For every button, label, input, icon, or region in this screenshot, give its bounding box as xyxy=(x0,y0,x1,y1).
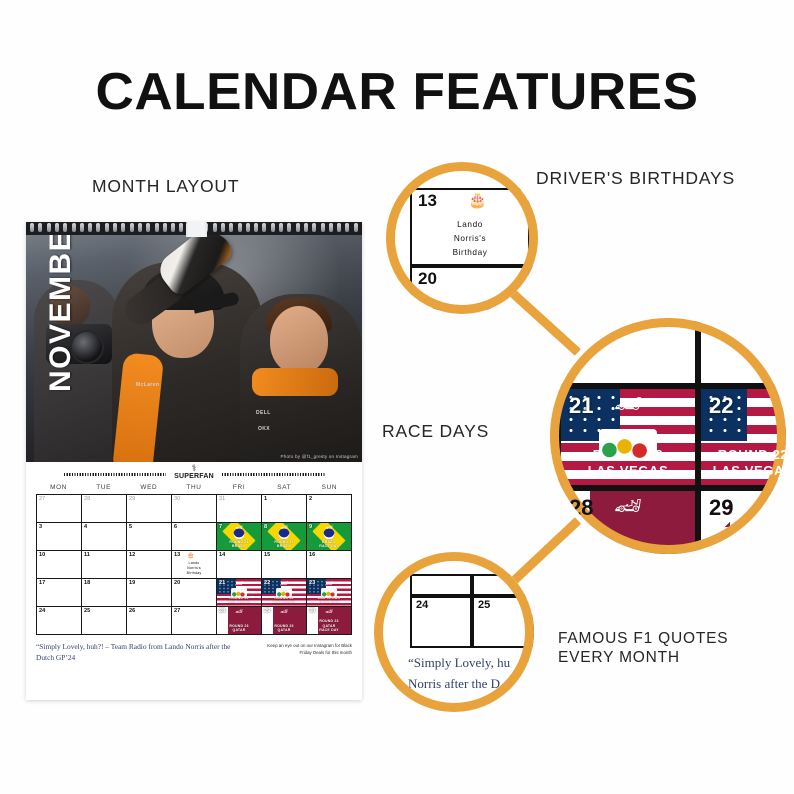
birthday-cake-icon: 🎂 xyxy=(187,552,194,559)
zoom-quote-text: “Simply Lovely, hu Norris after the D xyxy=(408,652,534,695)
spiral-wire xyxy=(96,223,100,232)
photo-credit: Photo by @f1_gresty on Instagram xyxy=(281,454,358,459)
day-number: 9 xyxy=(309,524,312,530)
calendar-day-cell: ROUND 21 BRAZIL🏎8 xyxy=(262,523,307,551)
day-number: 21 xyxy=(219,580,225,586)
day-number: 12 xyxy=(129,552,135,558)
calendar-day-cell: ROUND 23 QATAR RACE DAY🏎30 xyxy=(307,607,352,635)
calendar-day-cell: ROUND 22 LAS VEGAS🏎21 xyxy=(217,579,262,607)
spiral-wire xyxy=(138,223,142,232)
weekday-header-row: MONTUEWEDTHUFRISATSUN xyxy=(26,484,362,494)
birthday-text: Lando Norris's Birthday xyxy=(172,561,216,577)
spiral-wire xyxy=(304,223,308,232)
race-round-label: ROUND 23 QATAR xyxy=(262,624,306,633)
f1-car-icon: 🏎 xyxy=(614,393,642,415)
calendar-day-cell: ROUND 23 QATAR🏎29 xyxy=(262,607,307,635)
logo-wordmark: SUPERFAN xyxy=(170,473,218,481)
logo-mark-icon: ⚕ xyxy=(170,464,218,473)
weekday-label-sun: SUN xyxy=(307,484,352,494)
zoom-birthday-text: Lando Norris's Birthday xyxy=(410,218,530,260)
day-number: 30 xyxy=(174,496,180,502)
spiral-wire xyxy=(47,223,51,232)
zoom-race-cell-22: 22 ROUND 22 LAS VEGAS xyxy=(698,386,786,488)
spiral-wire xyxy=(63,223,67,232)
spiral-wire xyxy=(105,223,109,232)
label-race-days: RACE DAYS xyxy=(382,421,489,443)
calendar-day-cell: 3 xyxy=(37,523,82,551)
day-number: 16 xyxy=(309,552,315,558)
spiral-wire xyxy=(354,223,358,232)
day-number: 29 xyxy=(264,608,270,614)
day-number: 18 xyxy=(84,580,90,586)
spiral-wire xyxy=(229,223,233,232)
day-number: 17 xyxy=(39,580,45,586)
zoom-race-day-number: 29 xyxy=(709,495,733,521)
zoom-race-day-number: 28 xyxy=(569,495,593,521)
calendar-day-cell: 13🎂Lando Norris's Birthday xyxy=(172,551,217,579)
day-number: 29 xyxy=(129,496,135,502)
f1-car-icon: 🏎 xyxy=(614,495,642,517)
calendar-day-cell: 19 xyxy=(127,579,172,607)
zoom-quote-cell-top-left xyxy=(410,574,472,596)
decorative-rule-right xyxy=(222,473,326,476)
f1-car-icon: 🏎 xyxy=(280,609,288,615)
day-number: 31 xyxy=(219,496,225,502)
day-number: 28 xyxy=(84,496,90,502)
casino-chips-icon xyxy=(321,588,337,597)
calendar-day-cell: 2 xyxy=(307,495,352,523)
calendar-day-cell: ROUND 21 BRAZIL🏎7 xyxy=(217,523,262,551)
calendar-month-name: NOVEMBER xyxy=(44,222,78,392)
spiral-wire xyxy=(155,223,159,232)
casino-chips-icon xyxy=(599,429,657,459)
spiral-wire xyxy=(171,223,175,232)
spiral-wire xyxy=(312,223,316,232)
zoom-race-round-label: ROUND 22 LAS VEGAS xyxy=(701,447,786,480)
calendar-day-cell: 14 xyxy=(217,551,262,579)
spiral-wire xyxy=(279,223,283,232)
day-number: 2 xyxy=(309,496,312,502)
spiral-wire xyxy=(55,223,59,232)
day-number: 10 xyxy=(39,552,45,558)
calendar-day-cell: LAS VEGAS RACE DAY🏎23 xyxy=(307,579,352,607)
calendar-day-cell: 30 xyxy=(172,495,217,523)
day-number: 30 xyxy=(309,608,315,614)
weekday-label-wed: WED xyxy=(126,484,171,494)
day-number: 1 xyxy=(264,496,267,502)
spiral-wire xyxy=(130,223,134,232)
spiral-wire xyxy=(321,223,325,232)
driver-oscar-figure: DELL OKX xyxy=(240,294,362,462)
weekday-label-sat: SAT xyxy=(262,484,307,494)
calendar-day-cell: 29 xyxy=(127,495,172,523)
day-number: 22 xyxy=(264,580,270,586)
calendar-footer: “Simply Lovely, huh?! – Team Radio from … xyxy=(36,641,352,677)
spiral-wire xyxy=(221,223,225,232)
spiral-wire xyxy=(329,223,333,232)
spiral-wire xyxy=(287,223,291,232)
calendar-day-cell: 20 xyxy=(172,579,217,607)
calendar-day-cell: 10 xyxy=(37,551,82,579)
zoom-race-empty-cell-left xyxy=(558,318,698,386)
spiral-wire xyxy=(296,223,300,232)
race-round-label: BRAZIL RACE DAY xyxy=(307,540,351,549)
spiral-wire xyxy=(345,223,349,232)
race-round-label: ROUND 22 LAS VEGAS xyxy=(262,596,306,605)
calendar-day-cell: 17 xyxy=(37,579,82,607)
weekday-label-fri: FRI xyxy=(217,484,262,494)
zoom-birthday-day-number-below: 20 xyxy=(418,269,437,289)
superfan-logo: ⚕ SUPERFAN xyxy=(170,464,218,481)
f1-car-icon: 🏎 xyxy=(325,525,333,531)
spiral-wire xyxy=(38,223,42,232)
calendar-day-cell: ROUND 23 QATAR🏎28 xyxy=(217,607,262,635)
day-number: 5 xyxy=(129,524,132,530)
zoom-quote-cell-top-right xyxy=(472,574,534,596)
spiral-wire xyxy=(238,223,242,232)
day-number: 19 xyxy=(129,580,135,586)
spiral-wire xyxy=(121,223,125,232)
calendar-day-cell: 12 xyxy=(127,551,172,579)
zoom-race-day-number: 21 xyxy=(569,393,593,419)
weekday-label-mon: MON xyxy=(36,484,81,494)
hanging-hook xyxy=(186,222,207,237)
zoom-birthday-day-number: 13 xyxy=(418,191,437,211)
calendar-day-cell: 27 xyxy=(172,607,217,635)
calendar-day-cell: 27 xyxy=(37,495,82,523)
day-number: 11 xyxy=(84,552,90,558)
day-number: 20 xyxy=(174,580,180,586)
casino-chips-icon xyxy=(276,588,292,597)
calendar-day-cell: 31 xyxy=(217,495,262,523)
calendar-day-cell: 18 xyxy=(82,579,127,607)
day-number: 15 xyxy=(264,552,270,558)
f1-car-icon: 🏎 xyxy=(280,581,288,587)
label-famous-quotes: FAMOUS F1 QUOTES EVERY MONTH xyxy=(558,629,728,668)
feature-poster: CALENDAR FEATURES MONTH LAYOUT DRIVER'S … xyxy=(0,0,794,794)
zoom-birthday-content: 13 20 🎂 Lando Norris's Birthday xyxy=(386,162,538,314)
calendar-day-cell: ROUND 22 LAS VEGAS🏎22 xyxy=(262,579,307,607)
f1-car-icon: 🏎 xyxy=(325,609,333,615)
label-month-layout: MONTH LAYOUT xyxy=(92,176,239,198)
day-number: 4 xyxy=(84,524,87,530)
day-number: 6 xyxy=(174,524,177,530)
spiral-wire xyxy=(213,223,217,232)
calendar-day-cell: BRAZIL RACE DAY🏎9 xyxy=(307,523,352,551)
calendar-day-cell: 28 xyxy=(82,495,127,523)
zoom-race-empty-cell-right xyxy=(698,318,786,386)
calendar-day-cell: 16 xyxy=(307,551,352,579)
calendar-day-cell: 6 xyxy=(172,523,217,551)
spiral-wire xyxy=(113,223,117,232)
calendar-day-cell: 26 xyxy=(127,607,172,635)
calendar-day-cell: 15 xyxy=(262,551,307,579)
race-round-label: LAS VEGAS RACE DAY xyxy=(307,596,351,605)
day-number: 14 xyxy=(219,552,225,558)
zoom-birthday-cell-right xyxy=(530,266,538,310)
calendar-day-cell: 11 xyxy=(82,551,127,579)
weekday-label-tue: TUE xyxy=(81,484,126,494)
zoom-quote-content: 24 25 “Simply Lovely, hu Norris after th… xyxy=(374,552,534,712)
day-number: 27 xyxy=(39,496,45,502)
race-round-label: ROUND 23 QATAR xyxy=(217,624,261,633)
spiral-wire xyxy=(146,223,150,232)
f1-car-icon: 🏎 xyxy=(235,581,243,587)
spiral-wire xyxy=(163,223,167,232)
calendar-grid-sheet: ⚕ SUPERFAN MONTUEWEDTHUFRISATSUN 2728293… xyxy=(26,462,362,700)
calendar-promo-text: Keep an eye out on our Instagram for Bla… xyxy=(256,642,352,657)
calendar-cover-photo: McLaren DELL OKX Photo by @f1_gresty on … xyxy=(26,222,362,462)
day-number: 28 xyxy=(219,608,225,614)
brand-row: ⚕ SUPERFAN xyxy=(26,462,362,484)
spiral-wire xyxy=(254,223,258,232)
calendar-product-image: McLaren DELL OKX Photo by @f1_gresty on … xyxy=(26,222,362,700)
spiral-wire xyxy=(88,223,92,232)
day-number: 24 xyxy=(39,608,45,614)
zoom-race-content: 🏎 21 ROUND 22 LAS VEGAS 22 ROUND 22 LAS … xyxy=(550,318,786,554)
day-number: 23 xyxy=(309,580,315,586)
zoom-quote-day-number-right: 25 xyxy=(478,599,490,611)
day-number: 25 xyxy=(84,608,90,614)
day-number: 8 xyxy=(264,524,267,530)
spiral-wire xyxy=(337,223,341,232)
spiral-wire xyxy=(80,223,84,232)
race-round-label: ROUND 22 LAS VEGAS xyxy=(217,596,261,605)
calendar-day-grid: 2728293031123456ROUND 21 BRAZIL🏎7ROUND 2… xyxy=(36,494,352,635)
birthday-cake-icon: 🎂 xyxy=(468,192,487,210)
decorative-rule-left xyxy=(64,473,166,476)
calendar-quote-text: “Simply Lovely, huh?! – Team Radio from … xyxy=(36,641,236,664)
f1-car-icon: 🏎 xyxy=(325,581,333,587)
f1-car-icon: 🏎 xyxy=(235,525,243,531)
f1-car-icon: 🏎 xyxy=(280,525,288,531)
spiral-wire xyxy=(179,223,183,232)
spiral-wire xyxy=(30,223,34,232)
race-round-label: ROUND 21 BRAZIL xyxy=(262,540,306,549)
day-number: 27 xyxy=(174,608,180,614)
race-round-label: ROUND 21 BRAZIL xyxy=(217,540,261,549)
calendar-day-cell: 5 xyxy=(127,523,172,551)
spiral-wire xyxy=(72,223,76,232)
label-drivers-birthdays: DRIVER'S BIRTHDAYS xyxy=(536,168,735,190)
calendar-day-cell: 4 xyxy=(82,523,127,551)
f1-car-icon: 🏎 xyxy=(235,609,243,615)
day-number: 3 xyxy=(39,524,42,530)
calendar-day-cell: 24 xyxy=(37,607,82,635)
race-round-label: ROUND 23 QATAR RACE DAY xyxy=(307,619,351,632)
weekday-label-thu: THU xyxy=(171,484,216,494)
zoom-race-cell-29: 29 xyxy=(698,488,786,554)
zoom-race-cell-28: 🏎 28 xyxy=(558,488,698,554)
day-number: 13 xyxy=(174,552,180,558)
casino-chips-icon xyxy=(231,588,247,597)
spiral-wire xyxy=(271,223,275,232)
calendar-day-cell: 1 xyxy=(262,495,307,523)
day-number: 26 xyxy=(129,608,135,614)
zoom-quote-day-number-left: 24 xyxy=(416,599,428,611)
zoom-race-day-number: 22 xyxy=(709,393,733,419)
spiral-wire xyxy=(262,223,266,232)
calendar-day-cell: 25 xyxy=(82,607,127,635)
page-title: CALENDAR FEATURES xyxy=(0,62,794,122)
day-number: 7 xyxy=(219,524,222,530)
zoom-race-cell-21: 🏎 21 ROUND 22 LAS VEGAS xyxy=(558,386,698,488)
spiral-wire xyxy=(246,223,250,232)
